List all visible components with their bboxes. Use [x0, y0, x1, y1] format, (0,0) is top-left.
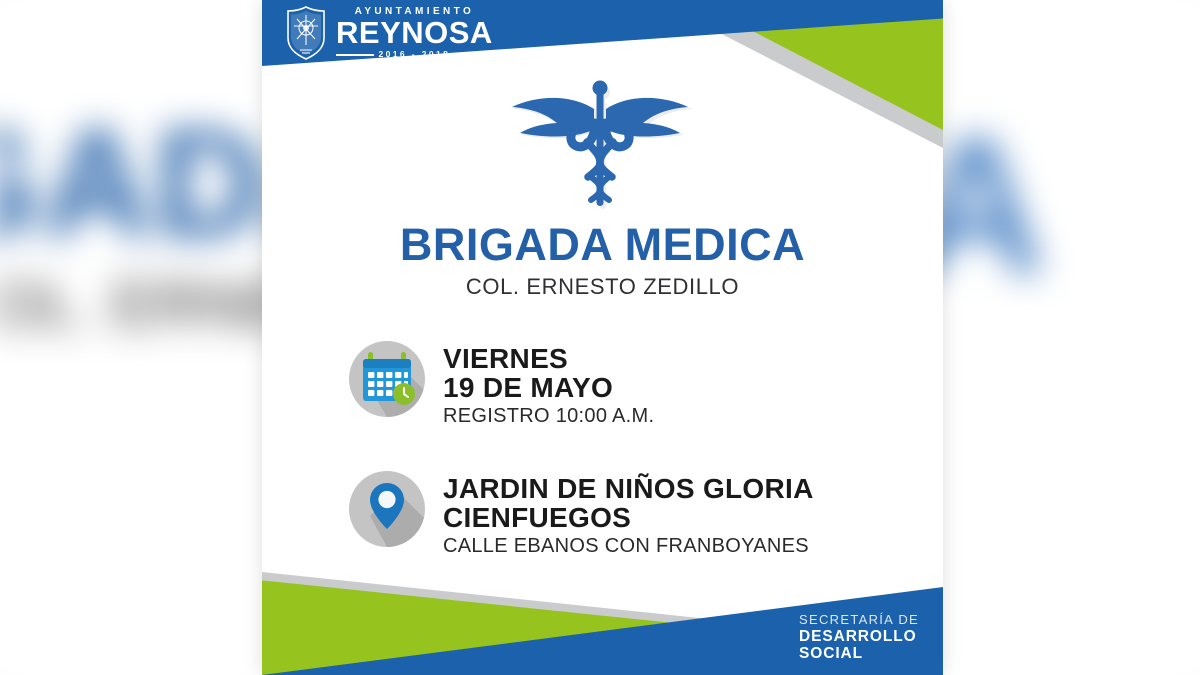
- reynosa-coat-of-arms-icon: [284, 6, 328, 60]
- info-row-location: JARDIN DE NIÑOS GLORIA CIENFUEGOS CALLE …: [348, 470, 913, 558]
- calendar-clock-icon: [348, 340, 426, 418]
- info-row-date: VIERNES 19 DE MAYO REGISTRO 10:00 A.M.: [348, 340, 913, 428]
- poster-headings: BRIGADA MEDICA COL. ERNESTO ZEDILLO: [262, 222, 943, 298]
- info-row-date-text: VIERNES 19 DE MAYO REGISTRO 10:00 A.M.: [443, 340, 654, 428]
- poster-card: AYUNTAMIENTO REYNOSA 2016 - 2018: [262, 0, 943, 675]
- info-rows: VIERNES 19 DE MAYO REGISTRO 10:00 A.M. J…: [348, 340, 913, 599]
- page-subtitle: COL. ERNESTO ZEDILLO: [262, 276, 943, 298]
- location-line-1: JARDIN DE NIÑOS GLORIA: [443, 474, 814, 503]
- logo-rule-left: [336, 54, 374, 56]
- page-title: BRIGADA MEDICA: [262, 222, 943, 267]
- logo-rule-right: [455, 54, 493, 56]
- map-pin-icon: [348, 470, 426, 548]
- footer-department: SECRETARÍA DE DESARROLLO SOCIAL: [799, 613, 919, 663]
- screenshot-stage: BRIGADA COL. ERNESTO ZEDILLO A CIENFUEGO…: [0, 0, 1200, 675]
- date-line-2: 19 DE MAYO: [443, 373, 654, 402]
- date-line-1: VIERNES: [443, 344, 654, 373]
- reynosa-logo: AYUNTAMIENTO REYNOSA 2016 - 2018: [284, 6, 493, 60]
- location-line-3: CALLE EBANOS CON FRANBOYANES: [443, 535, 814, 557]
- footer-line-2: DESARROLLO: [799, 628, 919, 646]
- date-line-3: REGISTRO 10:00 A.M.: [443, 405, 654, 427]
- logo-wordmark-block: AYUNTAMIENTO REYNOSA 2016 - 2018: [336, 7, 493, 59]
- footer-line-3: SOCIAL: [799, 645, 919, 663]
- logo-years-row: 2016 - 2018: [336, 50, 493, 59]
- info-row-location-text: JARDIN DE NIÑOS GLORIA CIENFUEGOS CALLE …: [443, 470, 814, 558]
- footer-line-1: SECRETARÍA DE: [799, 613, 919, 628]
- caduceus-medical-icon: [262, 76, 943, 212]
- logo-years: 2016 - 2018: [379, 50, 451, 59]
- location-line-2: CIENFUEGOS: [443, 503, 814, 532]
- logo-wordmark: REYNOSA: [336, 18, 493, 47]
